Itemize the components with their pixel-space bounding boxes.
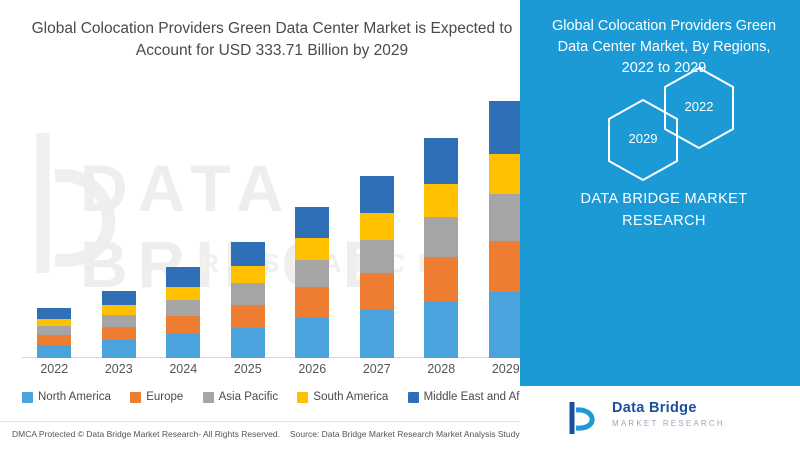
legend-label: North America bbox=[38, 391, 111, 403]
chart-panel: Global Colocation Providers Green Data C… bbox=[0, 0, 560, 450]
bar-group bbox=[360, 176, 394, 358]
bar-segment bbox=[37, 319, 71, 326]
hexagon-2022-label: 2022 bbox=[662, 99, 736, 114]
bar-segment bbox=[102, 305, 136, 315]
bar-segment bbox=[360, 273, 394, 309]
bar-segment bbox=[360, 240, 394, 273]
bar-group bbox=[231, 242, 265, 358]
legend-swatch-icon bbox=[297, 392, 308, 403]
x-tick-label: 2022 bbox=[24, 362, 84, 376]
x-axis-labels: 20222023202420252026202720282029 bbox=[22, 360, 538, 384]
bar-segment bbox=[295, 207, 329, 238]
x-tick-label: 2027 bbox=[347, 362, 407, 376]
bar-segment bbox=[295, 238, 329, 260]
legend-item[interactable]: South America bbox=[297, 391, 388, 403]
bar-segment bbox=[295, 287, 329, 317]
bar-segment bbox=[102, 327, 136, 340]
bar-segment bbox=[231, 283, 265, 304]
legend-label: Europe bbox=[146, 391, 183, 403]
legend-item[interactable]: Asia Pacific bbox=[203, 391, 278, 403]
footer-copyright: DMCA Protected © Data Bridge Market Rese… bbox=[12, 429, 280, 439]
bar-group bbox=[37, 308, 71, 358]
bar-segment bbox=[231, 328, 265, 358]
bar-segment bbox=[37, 345, 71, 358]
panel-brand-line2: RESEARCH bbox=[544, 210, 784, 232]
bar-segment bbox=[489, 194, 523, 241]
footer-bar: DMCA Protected © Data Bridge Market Rese… bbox=[0, 421, 560, 450]
bar-segment bbox=[424, 138, 458, 183]
bar-segment bbox=[166, 287, 200, 300]
legend-swatch-icon bbox=[203, 392, 214, 403]
hexagon-2022: 2022 bbox=[662, 66, 736, 150]
bar-segment bbox=[424, 184, 458, 217]
bar-segment bbox=[424, 301, 458, 358]
legend-item[interactable]: Europe bbox=[130, 391, 183, 403]
bar-segment bbox=[360, 213, 394, 240]
logo-subtitle: MARKET RESEARCH bbox=[612, 419, 725, 428]
panel-brand-line1: DATA BRIDGE MARKET bbox=[544, 188, 784, 210]
bar-segment bbox=[37, 308, 71, 319]
bar-segment bbox=[166, 267, 200, 286]
bar-segment bbox=[489, 292, 523, 359]
chart-legend: North AmericaEuropeAsia PacificSouth Ame… bbox=[22, 386, 538, 408]
x-axis-line bbox=[22, 357, 538, 358]
bar-group bbox=[295, 207, 329, 358]
legend-label: South America bbox=[313, 391, 388, 403]
legend-label: Asia Pacific bbox=[219, 391, 278, 403]
bar-group bbox=[489, 101, 523, 358]
legend-swatch-icon bbox=[22, 392, 33, 403]
x-tick-label: 2024 bbox=[153, 362, 213, 376]
logo-name: Data Bridge bbox=[612, 400, 697, 416]
bar-segment bbox=[360, 176, 394, 213]
bar-segment bbox=[231, 305, 265, 328]
bar-segment bbox=[166, 316, 200, 334]
info-panel: Global Colocation Providers Green Data C… bbox=[520, 0, 800, 450]
bar-segment bbox=[102, 315, 136, 327]
x-tick-label: 2025 bbox=[218, 362, 278, 376]
stacked-bar-plot bbox=[22, 96, 538, 358]
x-tick-label: 2026 bbox=[282, 362, 342, 376]
bar-segment bbox=[489, 101, 523, 154]
bar-group bbox=[424, 138, 458, 358]
bar-group bbox=[166, 267, 200, 358]
panel-brand: DATA BRIDGE MARKET RESEARCH bbox=[544, 188, 784, 232]
data-bridge-logo-icon bbox=[566, 400, 602, 436]
bar-segment bbox=[424, 257, 458, 300]
bar-segment bbox=[102, 291, 136, 305]
bar-segment bbox=[295, 260, 329, 287]
chart-infographic: Global Colocation Providers Green Data C… bbox=[0, 0, 800, 450]
bar-segment bbox=[102, 340, 136, 358]
x-tick-label: 2023 bbox=[89, 362, 149, 376]
bar-segment bbox=[295, 318, 329, 358]
bar-segment bbox=[360, 310, 394, 358]
legend-item[interactable]: North America bbox=[22, 391, 111, 403]
chart-title: Global Colocation Providers Green Data C… bbox=[22, 18, 522, 62]
bar-segment bbox=[166, 334, 200, 358]
bar-segment bbox=[489, 241, 523, 291]
bar-segment bbox=[37, 335, 71, 345]
legend-item[interactable]: Middle East and Africa bbox=[408, 391, 538, 403]
bar-segment bbox=[424, 217, 458, 257]
bar-segment bbox=[489, 154, 523, 193]
bar-segment bbox=[166, 300, 200, 316]
hexagon-group: 2029 2022 bbox=[544, 92, 784, 182]
legend-swatch-icon bbox=[408, 392, 419, 403]
footer-source: Source: Data Bridge Market Research Mark… bbox=[290, 429, 541, 439]
x-tick-label: 2028 bbox=[411, 362, 471, 376]
legend-swatch-icon bbox=[130, 392, 141, 403]
logo-footer: Data Bridge MARKET RESEARCH bbox=[520, 386, 800, 450]
bar-group bbox=[102, 291, 136, 358]
bar-segment bbox=[231, 266, 265, 283]
bar-segment bbox=[37, 326, 71, 335]
bar-segment bbox=[231, 242, 265, 266]
